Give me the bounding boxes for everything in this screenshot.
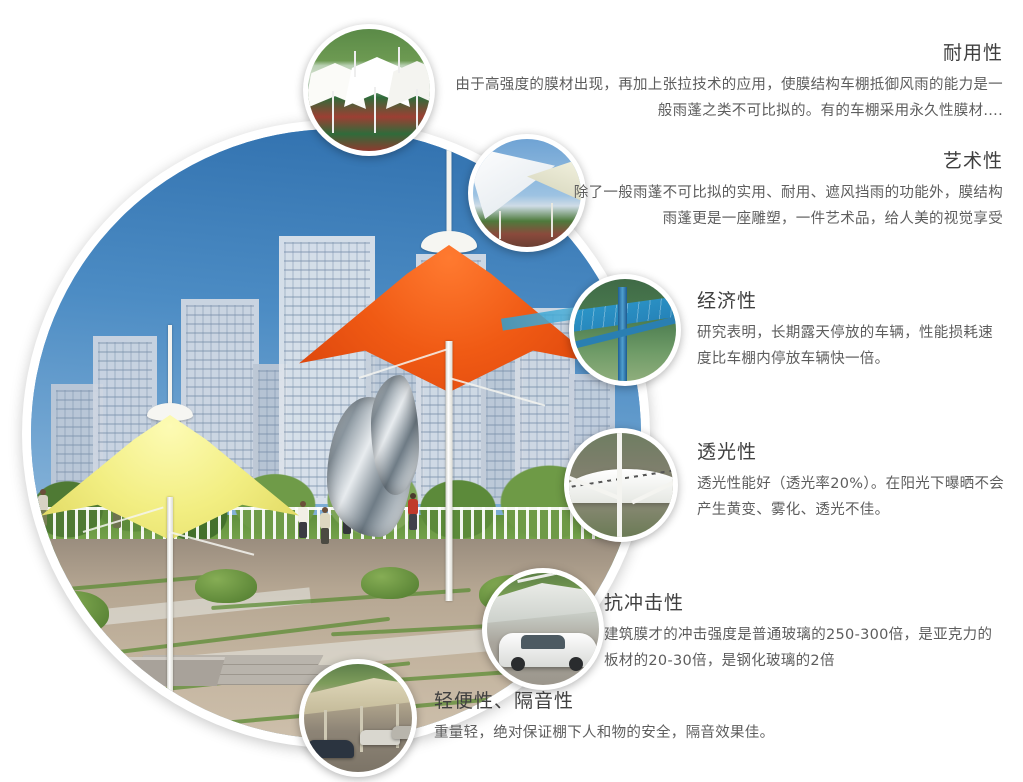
feature-body-translucency: 透光性能好（透光率20%）。在阳光下曝晒不会产生黄变、雾化、透光不佳。 — [697, 471, 1007, 523]
feature-body-impact-resistance: 建筑膜才的冲击强度是普通玻璃的250-300倍，是亚克力的板材的20-30倍，是… — [604, 622, 1004, 674]
thumb-durability[interactable] — [303, 24, 435, 156]
yellow-membrane-umbrella — [41, 325, 299, 625]
feature-block-impact-resistance: 抗冲击性 建筑膜才的冲击强度是普通玻璃的250-300倍，是亚克力的板材的20-… — [604, 592, 1004, 674]
feature-body-durability: 由于高强度的膜材出现，再加上张拉技术的应用，使膜结构车棚抵御风雨的能力是一般雨蓬… — [443, 72, 1003, 124]
feature-title-impact-resistance: 抗冲击性 — [604, 592, 1004, 615]
feature-title-lightweight-soundproof: 轻便性、隔音性 — [434, 690, 834, 713]
feature-body-economy: 研究表明，长期露天停放的车辆，性能损耗速度比车棚内停放车辆快一倍。 — [697, 320, 1007, 372]
infographic-canvas: 耐用性 由于高强度的膜材出现，再加上张拉技术的应用，使膜结构车棚抵御风雨的能力是… — [0, 0, 1023, 782]
thumb-impact-resistance[interactable] — [482, 568, 604, 690]
feature-body-artistry: 除了一般雨蓬不可比拟的实用、耐用、遮风挡雨的功能外，膜结构雨蓬更是一座雕塑，一件… — [560, 180, 1003, 232]
thumb-lightweight-soundproof[interactable] — [299, 659, 417, 777]
thumb-translucency[interactable] — [564, 428, 678, 542]
feature-body-lightweight-soundproof: 重量轻，绝对保证棚下人和物的安全，隔音效果佳。 — [434, 720, 834, 746]
feature-block-economy: 经济性 研究表明，长期露天停放的车辆，性能损耗速度比车棚内停放车辆快一倍。 — [697, 290, 1007, 372]
feature-title-durability: 耐用性 — [443, 42, 1003, 65]
feature-title-economy: 经济性 — [697, 290, 1007, 313]
feature-title-translucency: 透光性 — [697, 441, 1007, 464]
feature-block-lightweight-soundproof: 轻便性、隔音性 重量轻，绝对保证棚下人和物的安全，隔音效果佳。 — [434, 690, 834, 746]
feature-block-translucency: 透光性 透光性能好（透光率20%）。在阳光下曝晒不会产生黄变、雾化、透光不佳。 — [697, 441, 1007, 523]
thumb-economy[interactable] — [569, 274, 681, 386]
feature-block-durability: 耐用性 由于高强度的膜材出现，再加上张拉技术的应用，使膜结构车棚抵御风雨的能力是… — [443, 42, 1003, 124]
feature-block-artistry: 艺术性 除了一般雨蓬不可比拟的实用、耐用、遮风挡雨的功能外，膜结构雨蓬更是一座雕… — [560, 150, 1003, 232]
feature-title-artistry: 艺术性 — [560, 150, 1003, 173]
